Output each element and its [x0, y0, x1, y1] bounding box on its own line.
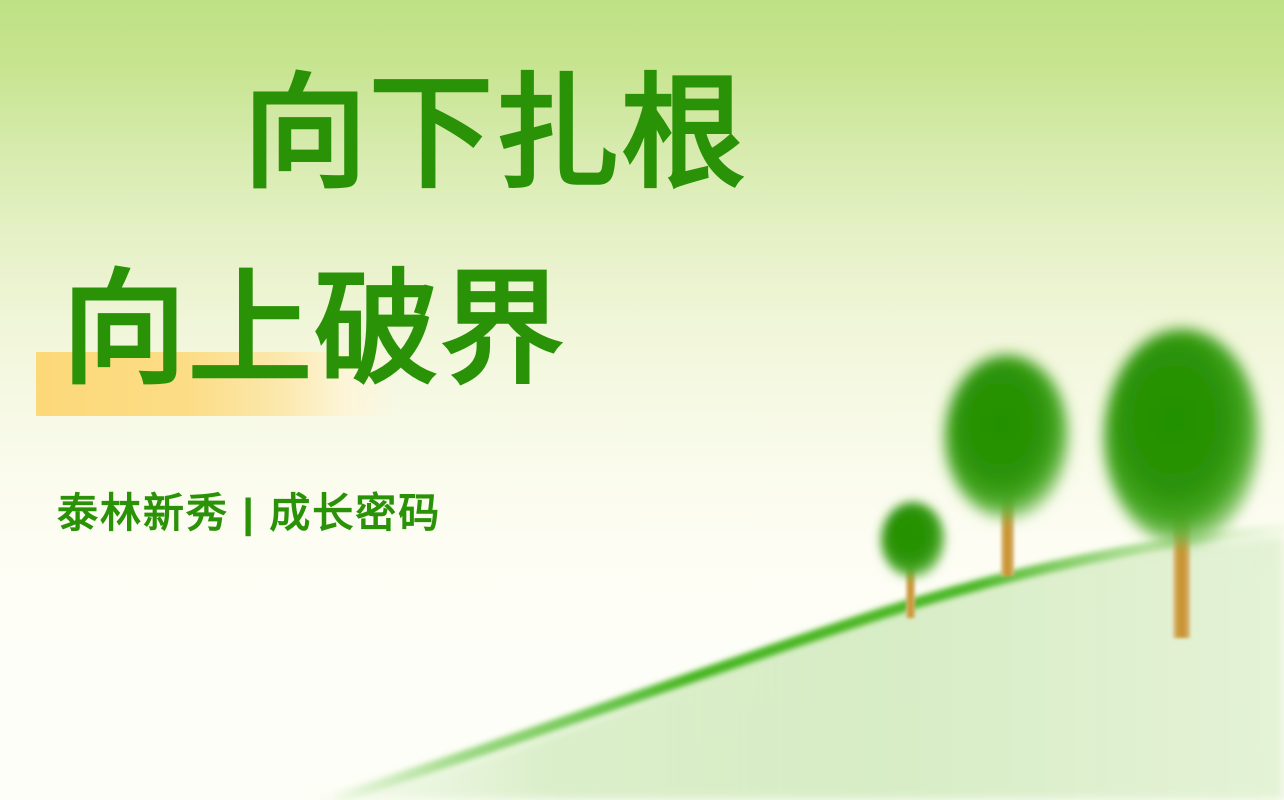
hill-shape: [300, 536, 1284, 800]
headline-line-1: 向下扎根: [243, 66, 747, 202]
title-slide: 向下扎根 向上破界 泰林新秀 | 成长密码: [0, 0, 1284, 800]
small-tree: [881, 502, 945, 618]
large-tree: [1104, 329, 1260, 638]
subtitle: 泰林新秀 | 成长密码: [57, 479, 441, 539]
headline-line-2-group: 向上破界: [62, 262, 566, 398]
hill-edge-curve: [330, 528, 1284, 800]
headline-line-2: 向上破界: [62, 262, 566, 398]
medium-tree: [945, 355, 1069, 576]
